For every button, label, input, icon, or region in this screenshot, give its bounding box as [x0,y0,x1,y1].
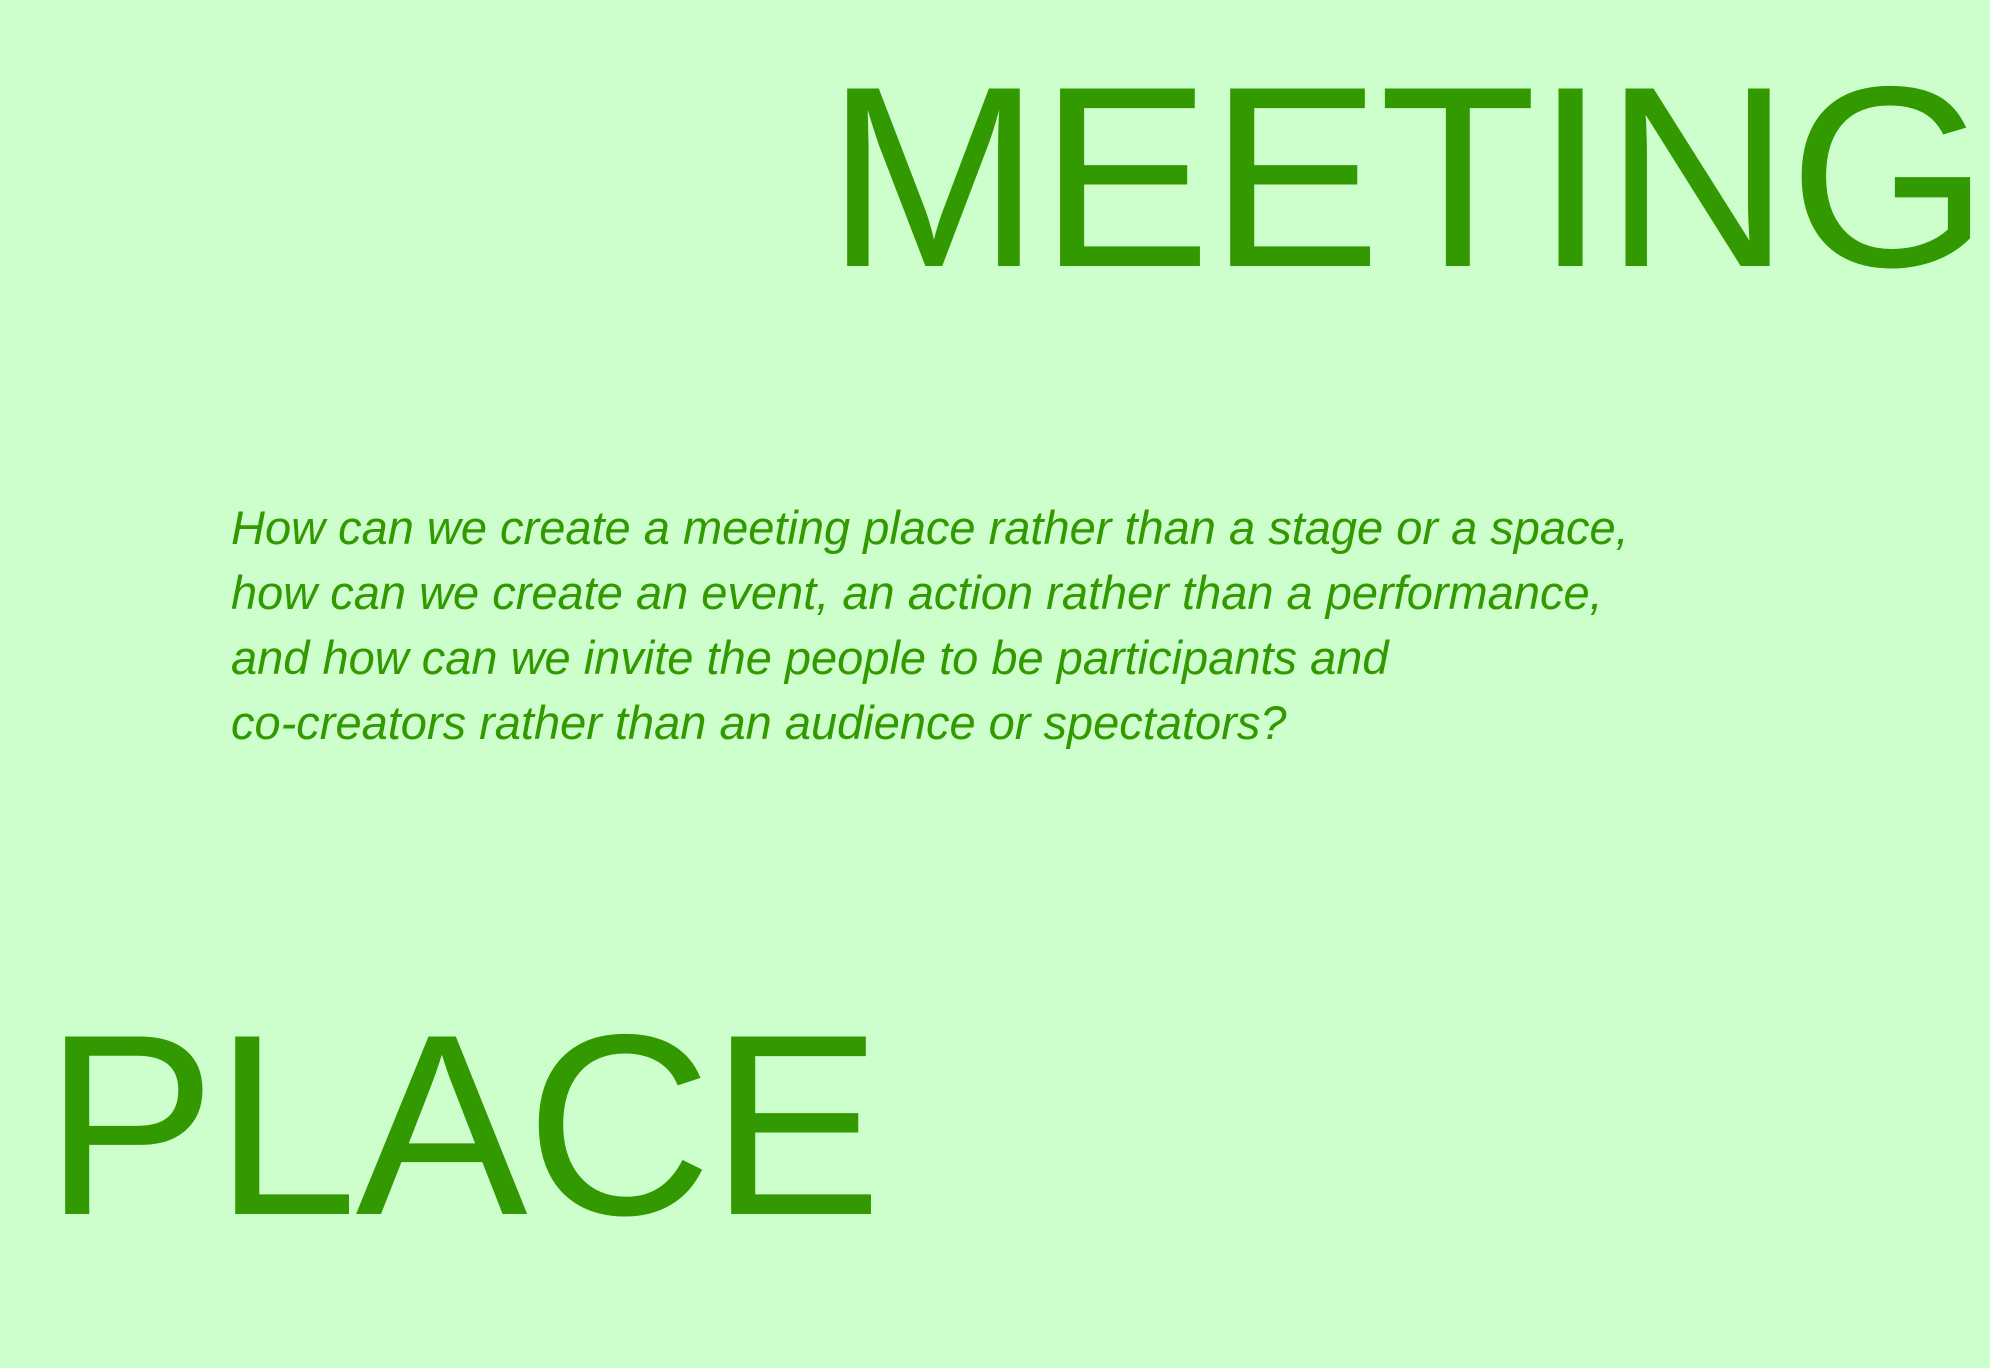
statement-line-4: co-creators rather than an audience or s… [231,690,1629,755]
poster-canvas: MEETING How can we create a meeting plac… [0,0,1990,1368]
statement-line-1: How can we create a meeting place rather… [231,495,1629,560]
statement-paragraph: How can we create a meeting place rather… [231,495,1629,755]
heading-meeting: MEETING [826,48,1987,306]
statement-line-3: and how can we invite the people to be p… [231,625,1629,690]
heading-place: PLACE [44,996,880,1254]
statement-line-2: how can we create an event, an action ra… [231,560,1629,625]
